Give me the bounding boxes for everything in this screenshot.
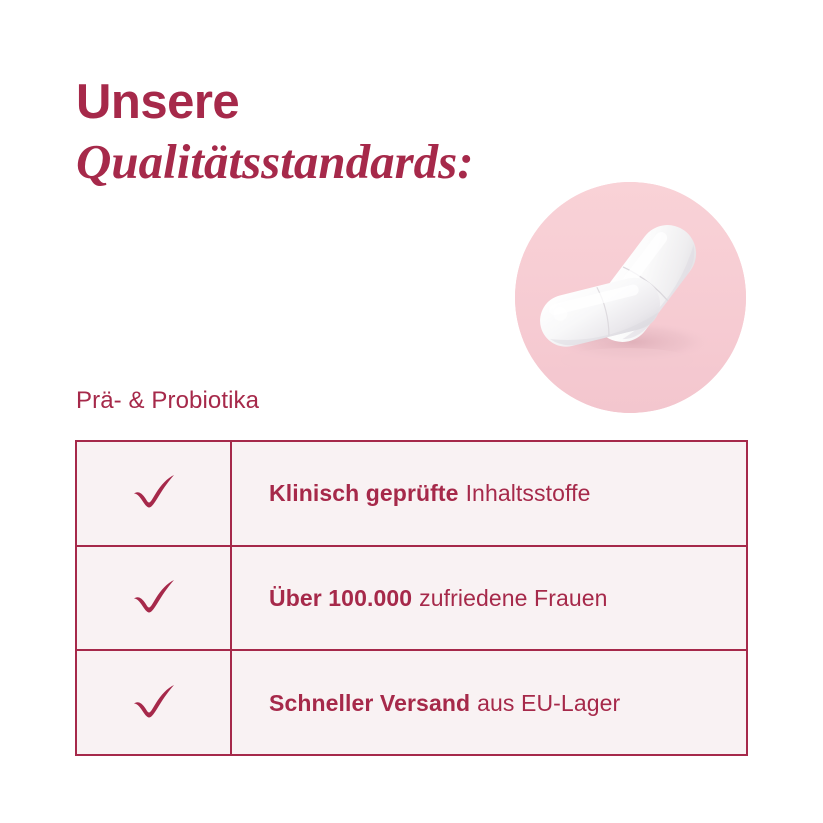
feature-label: Klinisch geprüfte Inhaltsstoffe [232, 442, 746, 545]
check-cell [77, 651, 232, 754]
page-title-line-2: Qualitätsstandards: [76, 132, 546, 192]
table-row: Klinisch geprüfte Inhaltsstoffe [77, 442, 746, 547]
capsules-illustration [515, 182, 746, 413]
check-cell [77, 442, 232, 545]
check-cell [77, 547, 232, 650]
feature-label-strong: Schneller Versand [269, 688, 470, 718]
table-row: Schneller Versand aus EU-Lager [77, 651, 746, 754]
page-title-line-1: Unsere [76, 74, 546, 130]
feature-label-rest: Inhaltsstoffe [466, 478, 591, 508]
quality-standards-card: Unsere Qualitätsstandards: [0, 0, 823, 823]
checkmark-icon [131, 474, 177, 512]
feature-label-strong: Klinisch geprüfte [269, 478, 459, 508]
checkmark-icon [131, 684, 177, 722]
feature-label: Schneller Versand aus EU-Lager [232, 651, 746, 754]
feature-label-strong: Über 100.000 [269, 583, 412, 613]
feature-label-rest: zufriedene Frauen [419, 583, 607, 613]
page-title: Unsere Qualitätsstandards: [76, 74, 546, 192]
feature-label: Über 100.000 zufriedene Frauen [232, 547, 746, 650]
product-image-circle [515, 182, 746, 413]
quality-standards-table: Klinisch geprüfte Inhaltsstoffe Über 100… [75, 440, 748, 756]
feature-label-rest: aus EU-Lager [477, 688, 620, 718]
table-row: Über 100.000 zufriedene Frauen [77, 547, 746, 652]
product-category-label: Prä- & Probiotika [76, 386, 259, 416]
checkmark-icon [131, 579, 177, 617]
